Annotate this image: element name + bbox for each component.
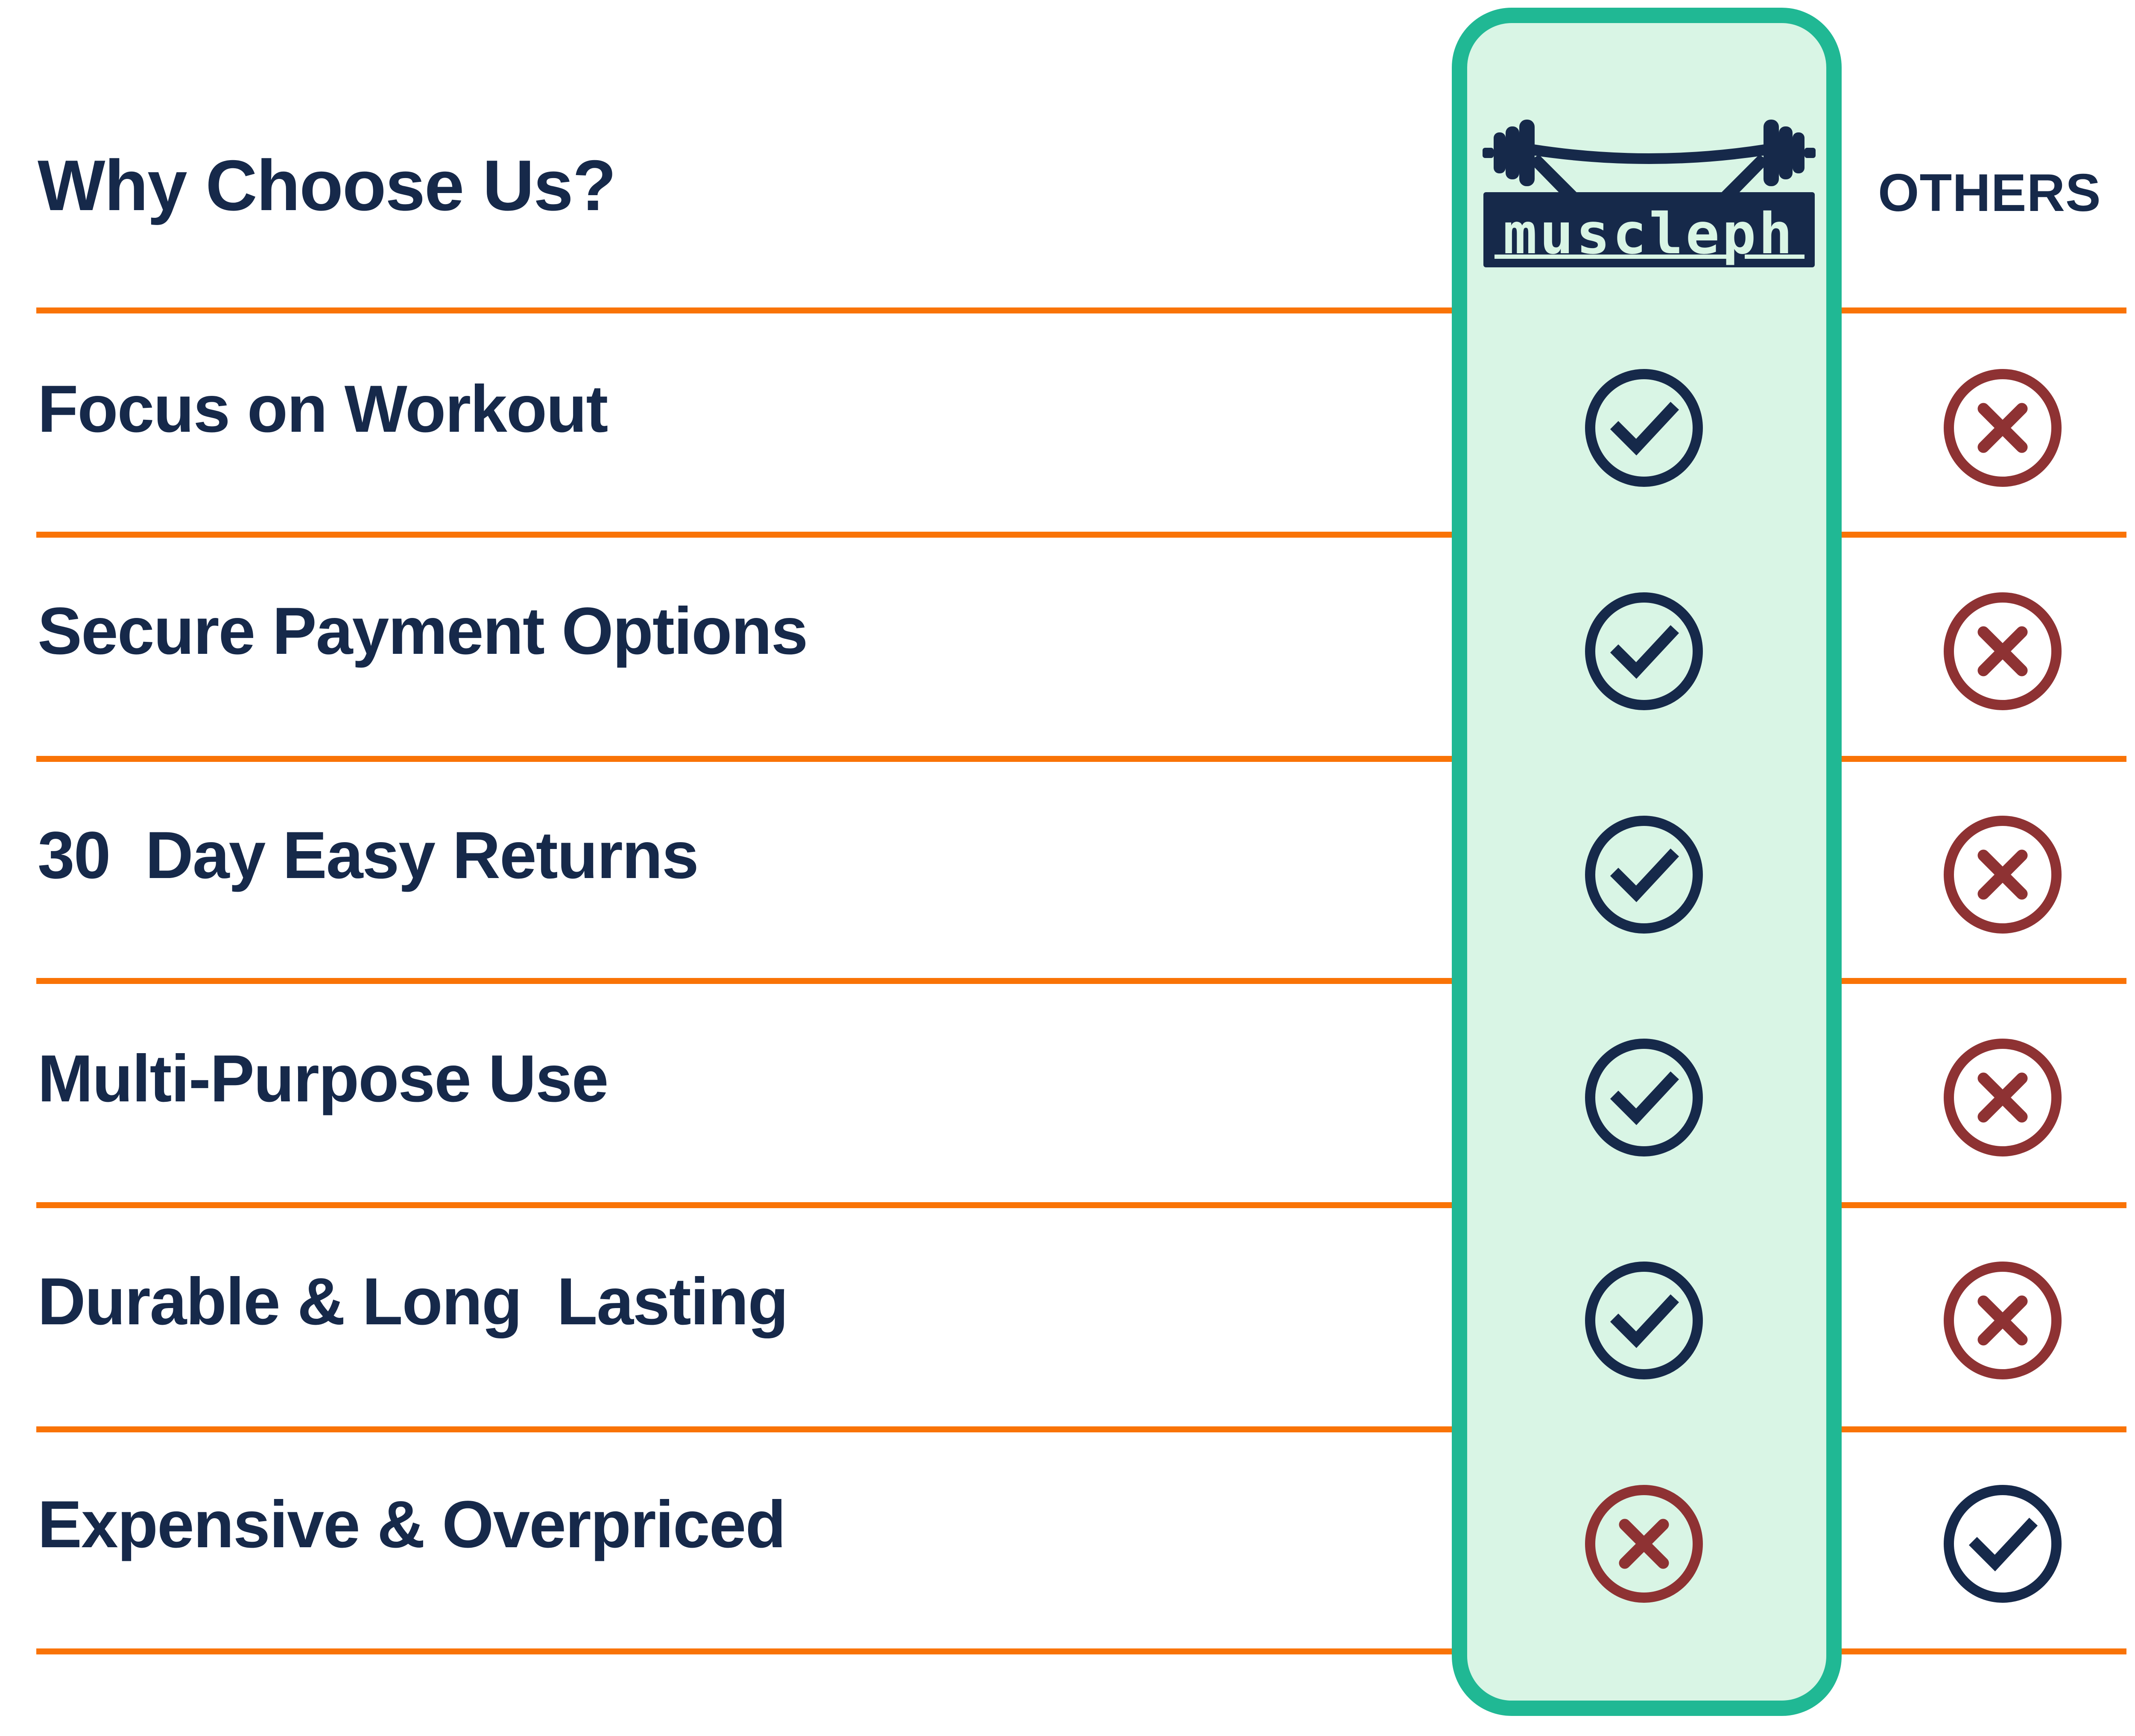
row-divider bbox=[1842, 307, 2126, 313]
row-divider bbox=[1842, 756, 2126, 762]
feature-label: Secure Payment Options bbox=[38, 598, 1404, 665]
row-divider bbox=[36, 756, 1452, 762]
row-divider bbox=[1842, 1426, 2126, 1432]
comparison-table: muscleph OTHERS Why Choose Us? Focus on … bbox=[0, 0, 2135, 1736]
row-divider bbox=[1842, 1202, 2126, 1208]
brand-check-icon bbox=[1580, 587, 1708, 715]
others-cross-icon bbox=[1939, 811, 2067, 939]
brand-check-icon bbox=[1580, 1256, 1708, 1385]
barbell-icon: muscleph bbox=[1474, 108, 1824, 278]
others-cross-icon bbox=[1939, 364, 2067, 492]
page-title: Why Choose Us? bbox=[38, 149, 1404, 221]
others-cross-icon bbox=[1939, 1033, 2067, 1162]
feature-label: Durable & Long Lasting bbox=[38, 1268, 1404, 1335]
others-cross-icon bbox=[1939, 1256, 2067, 1385]
row-divider bbox=[36, 1648, 1452, 1654]
row-divider bbox=[1842, 1648, 2126, 1654]
feature-label: Focus on Workout bbox=[38, 376, 1404, 442]
others-cross-icon bbox=[1939, 587, 2067, 715]
row-divider bbox=[36, 1426, 1452, 1432]
row-divider bbox=[36, 1202, 1452, 1208]
brand-cross-icon bbox=[1580, 1480, 1708, 1608]
feature-label: Expensive & Overpriced bbox=[38, 1491, 1404, 1558]
brand-check-icon bbox=[1580, 1033, 1708, 1162]
feature-label: 30 Day Easy Returns bbox=[38, 822, 1404, 889]
feature-label: Multi-Purpose Use bbox=[38, 1045, 1404, 1112]
row-divider bbox=[36, 307, 1452, 313]
others-column-header: OTHERS bbox=[1878, 167, 2101, 220]
row-divider bbox=[36, 978, 1452, 984]
row-divider bbox=[1842, 532, 2126, 538]
row-divider bbox=[36, 532, 1452, 538]
others-check-icon bbox=[1939, 1480, 2067, 1608]
row-divider bbox=[1842, 978, 2126, 984]
brand-check-icon bbox=[1580, 811, 1708, 939]
brand-check-icon bbox=[1580, 364, 1708, 492]
